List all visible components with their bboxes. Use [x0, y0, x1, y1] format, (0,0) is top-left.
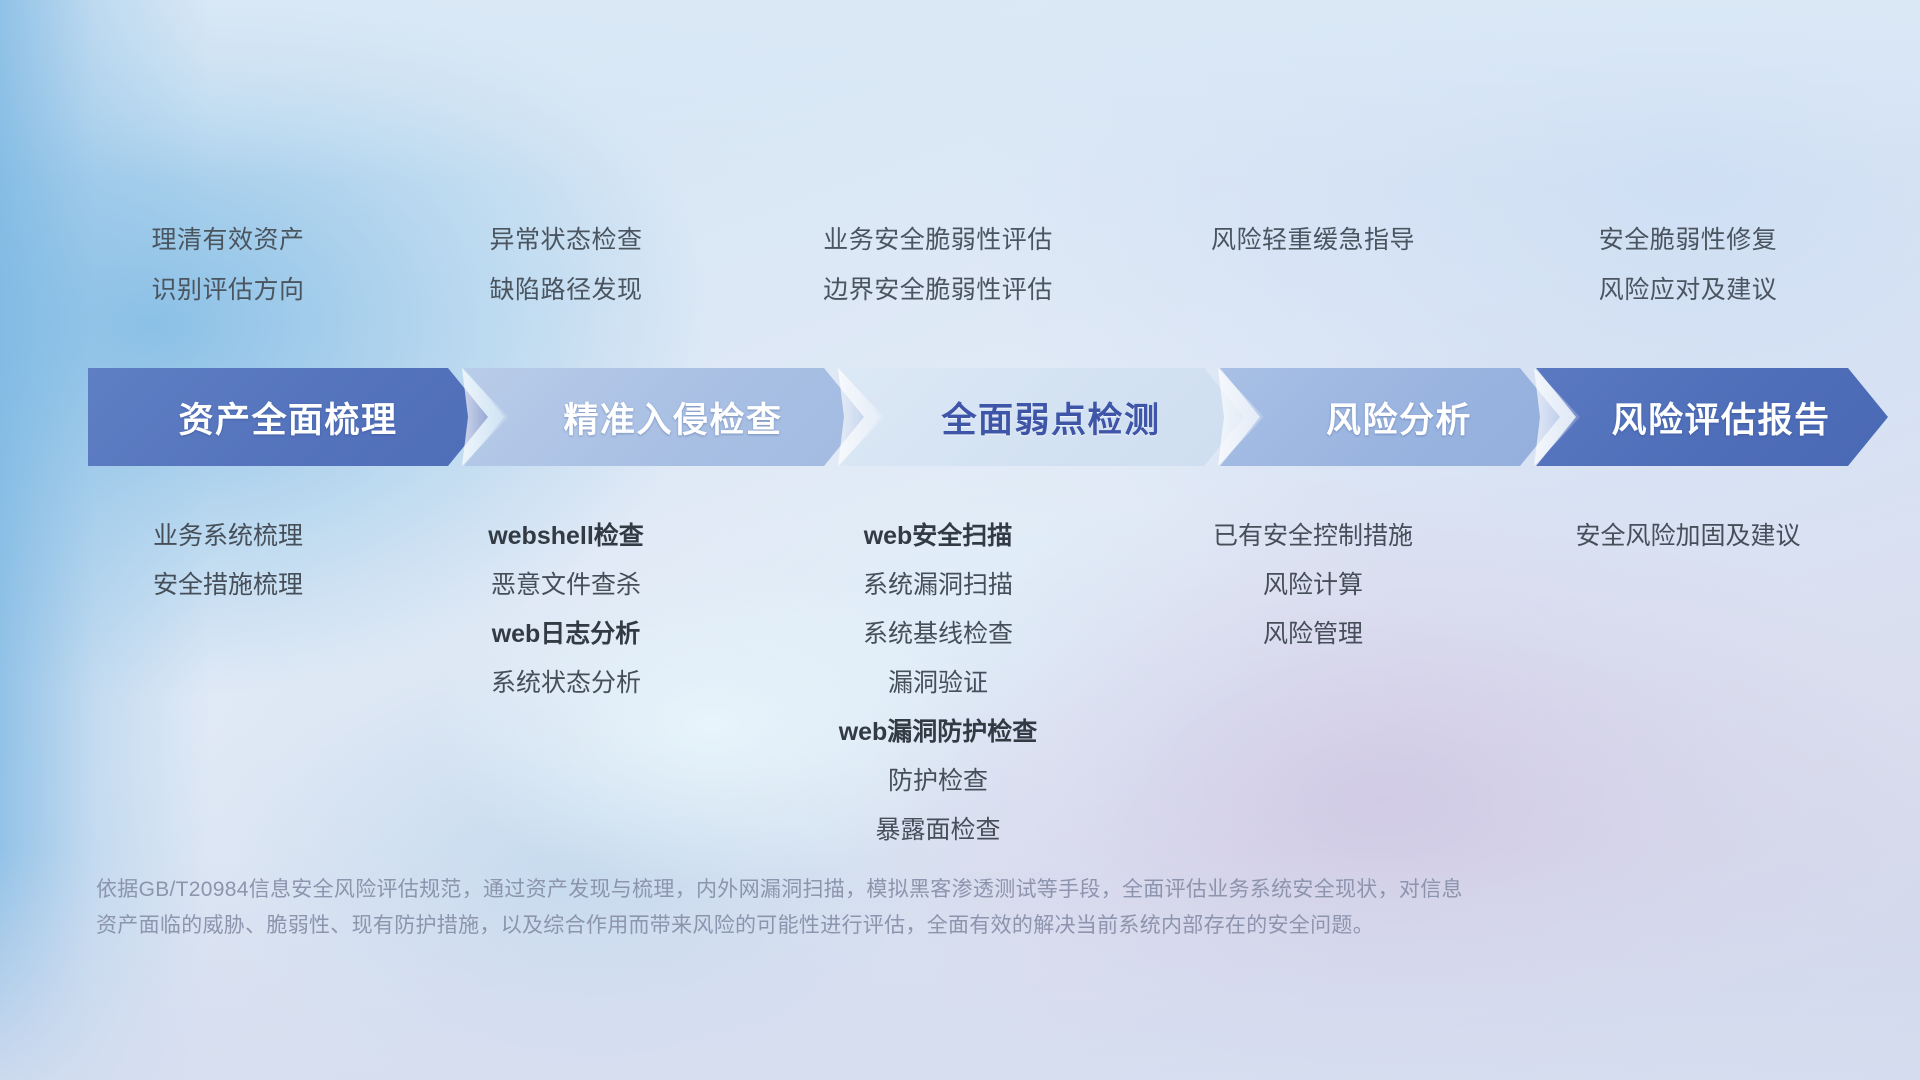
list-item: 风险管理	[1263, 610, 1363, 659]
stage-label-asset-inventory: 资产全面梳理	[178, 392, 397, 443]
stage-label-weakness-detection: 全面弱点检测	[941, 392, 1160, 443]
stage-weakness-detection-top-item: 边界安全脆弱性评估	[823, 270, 1053, 306]
list-item: 漏洞验证	[888, 659, 988, 708]
stage-items-risk-report: 安全风险加固及建议	[1575, 512, 1800, 561]
list-item: 暴露面检查	[875, 806, 1000, 855]
list-item: 已有安全控制措施	[1213, 512, 1413, 561]
stage-asset-inventory-top-item: 理清有效资产	[151, 220, 304, 256]
stage-items-intrusion-check: webshell检查恶意文件查杀web日志分析系统状态分析	[488, 512, 644, 708]
stage-chevron-risk-analysis[interactable]: 风险分析	[1220, 368, 1560, 466]
list-item: web安全扫描	[864, 512, 1013, 561]
stage-label-risk-report: 风险评估报告	[1611, 392, 1830, 443]
process-chevron-band: 资产全面梳理精准入侵检查全面弱点检测风险分析风险评估报告	[88, 368, 1848, 466]
stage-chevron-weakness-detection[interactable]: 全面弱点检测	[840, 368, 1244, 466]
list-item: 安全风险加固及建议	[1575, 512, 1800, 561]
stage-risk-report-top-item: 安全脆弱性修复	[1599, 220, 1778, 256]
stage-chevron-asset-inventory[interactable]: 资产全面梳理	[88, 368, 488, 466]
stage-intrusion-check-top-item: 缺陷路径发现	[489, 270, 642, 306]
footer-description: 依据GB/T20984信息安全风险评估规范，通过资产发现与梳理，内外网漏洞扫描，…	[96, 872, 1736, 944]
stage-chevron-intrusion-check[interactable]: 精准入侵检查	[464, 368, 864, 466]
list-item: webshell检查	[488, 512, 644, 561]
list-item: 业务系统梳理	[153, 512, 303, 561]
stage-label-risk-analysis: 风险分析	[1326, 392, 1472, 443]
footer-line-2: 资产面临的威胁、脆弱性、现有防护措施，以及综合作用而带来风险的可能性进行评估，全…	[96, 908, 1736, 944]
list-item: web日志分析	[492, 610, 641, 659]
list-item: 安全措施梳理	[153, 561, 303, 610]
top-gradient-overlay	[0, 0, 1920, 180]
stage-risk-report-top-item: 风险应对及建议	[1599, 270, 1778, 306]
stage-asset-inventory-top-item: 识别评估方向	[151, 270, 304, 306]
list-item: 防护检查	[888, 757, 988, 806]
list-item: 系统漏洞扫描	[863, 561, 1013, 610]
stage-weakness-detection-top-item: 业务安全脆弱性评估	[823, 220, 1053, 256]
stage-items-weakness-detection: web安全扫描系统漏洞扫描系统基线检查漏洞验证web漏洞防护检查防护检查暴露面检…	[839, 512, 1038, 855]
stage-intrusion-check-top-item: 异常状态检查	[489, 220, 642, 256]
list-item: web漏洞防护检查	[839, 708, 1038, 757]
stage-risk-analysis-top-item: 风险轻重缓急指导	[1211, 220, 1415, 256]
footer-line-1: 依据GB/T20984信息安全风险评估规范，通过资产发现与梳理，内外网漏洞扫描，…	[96, 872, 1736, 908]
list-item: 系统状态分析	[491, 659, 641, 708]
list-item: 系统基线检查	[863, 610, 1013, 659]
stage-chevron-risk-report[interactable]: 风险评估报告	[1536, 368, 1888, 466]
stage-items-risk-analysis: 已有安全控制措施风险计算风险管理	[1213, 512, 1413, 659]
stage-label-intrusion-check: 精准入侵检查	[563, 392, 782, 443]
list-item: 风险计算	[1263, 561, 1363, 610]
stage-items-asset-inventory: 业务系统梳理安全措施梳理	[153, 512, 303, 610]
list-item: 恶意文件查杀	[491, 561, 641, 610]
